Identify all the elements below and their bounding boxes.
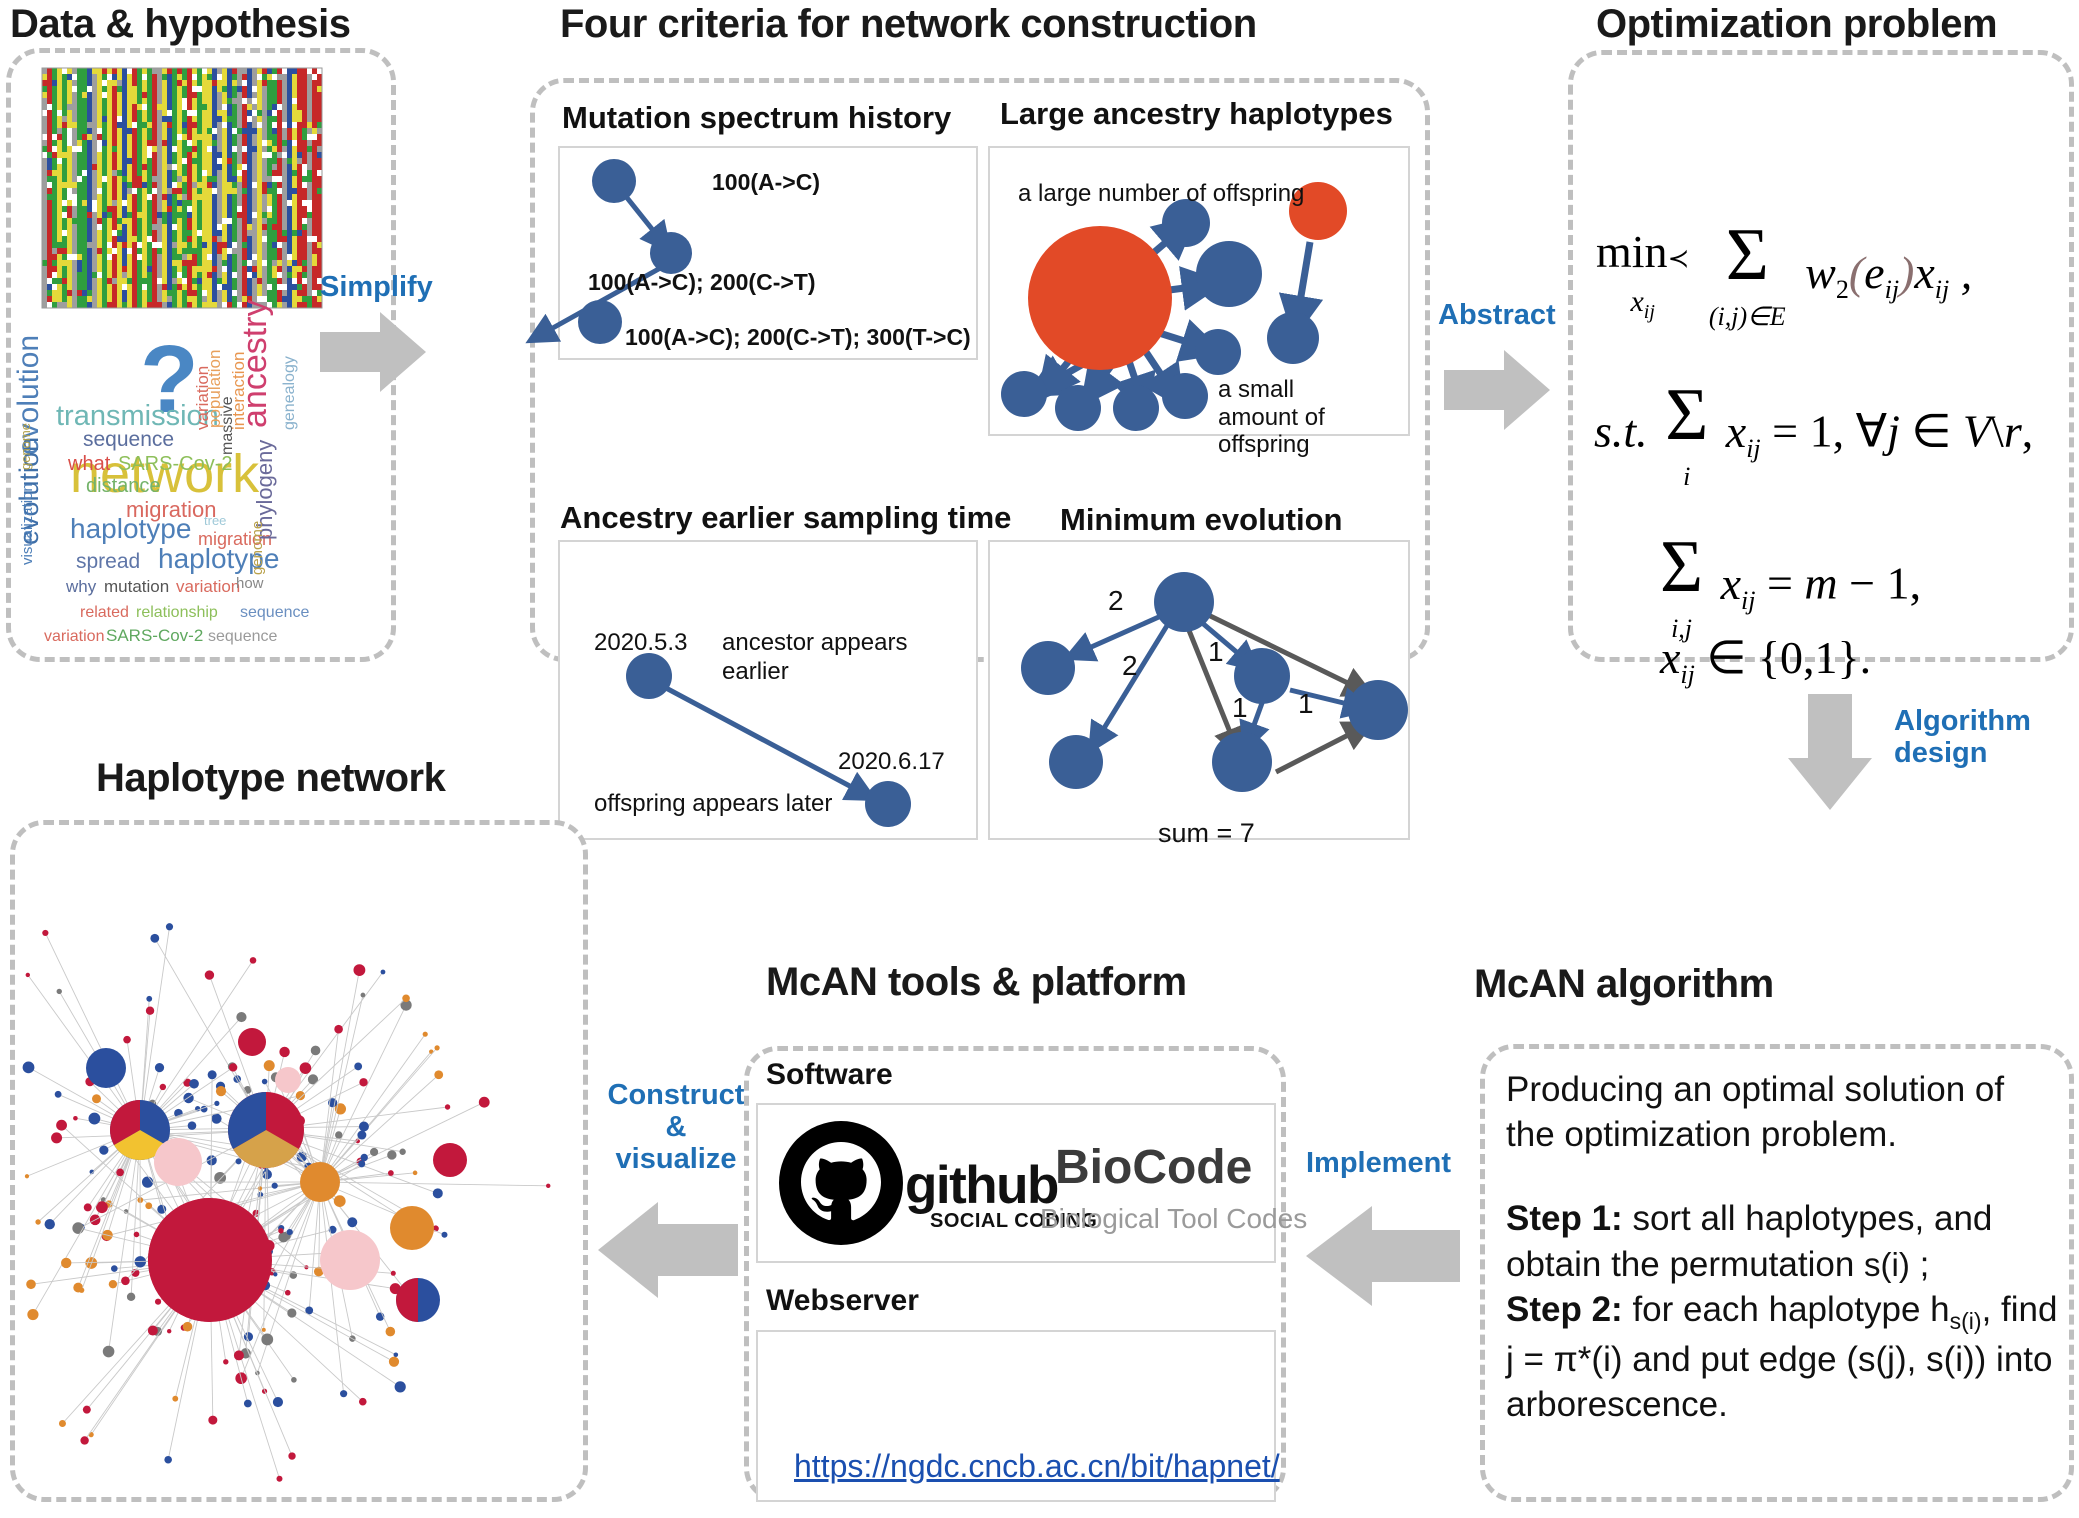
step1-label: Step 1: bbox=[1506, 1199, 1623, 1238]
step2-math-h: h bbox=[1930, 1290, 1949, 1329]
svg-text:tree: tree bbox=[204, 513, 226, 528]
arrow-label-algorithm-design: Algorithmdesign bbox=[1894, 706, 2074, 770]
label-sum: sum = 7 bbox=[1158, 818, 1255, 849]
sequence-alignment-image bbox=[42, 68, 322, 308]
svg-text:genome: genome bbox=[249, 521, 266, 575]
svg-text:sequence: sequence bbox=[83, 428, 174, 451]
arrow-label-simplify: Simplify bbox=[320, 272, 450, 302]
svg-text:what: what bbox=[67, 453, 111, 475]
svg-text:mutation: mutation bbox=[104, 577, 169, 596]
label-mutation-1: 100(A->C) bbox=[712, 169, 820, 196]
step2-math-edge: (s(j), s(i)) bbox=[1846, 1340, 1986, 1379]
algorithm-steps: Step 1: sort all haplotypes, and obtain … bbox=[1506, 1196, 2068, 1428]
svg-text:variation: variation bbox=[176, 577, 240, 596]
edge-weight-5: 1 bbox=[1298, 688, 1314, 720]
page-title-data-hypothesis: Data & hypothesis bbox=[10, 2, 350, 47]
step2-text-a: for each haplotype bbox=[1632, 1290, 1920, 1329]
label-note-ancestor: ancestor appearsearlier bbox=[722, 629, 922, 687]
svg-text:sequence: sequence bbox=[208, 628, 277, 645]
subtitle-large-ancestry: Large ancestry haplotypes bbox=[1000, 96, 1393, 132]
equation-objective: min≺ xij Σ (i,j)∈E w2(eij)xij , bbox=[1596, 222, 1972, 330]
svg-text:why: why bbox=[65, 577, 97, 596]
subtitle-mutation-spectrum: Mutation spectrum history bbox=[562, 100, 951, 136]
label-software: Software bbox=[766, 1058, 893, 1092]
bit-toolkit-icon bbox=[796, 1350, 880, 1434]
bit-tagline: bioinformatics toolkit bbox=[1028, 1398, 1273, 1429]
step2-text-c: and put edge bbox=[1632, 1340, 1836, 1379]
svg-text:relationship: relationship bbox=[136, 604, 218, 621]
label-large-offspring: a large number of offspring bbox=[1018, 180, 1304, 208]
arrow-simplify-icon bbox=[318, 300, 430, 410]
svg-text:genealogy: genealogy bbox=[281, 356, 298, 430]
label-date-offspring: 2020.6.17 bbox=[838, 748, 945, 776]
equation-constraint-1: s.t. Σ i xij = 1, ∀j ∈ V\r, bbox=[1594, 382, 2033, 490]
page-title-optimization: Optimization problem bbox=[1596, 2, 1997, 47]
arrow-implement-icon bbox=[1300, 1194, 1464, 1318]
github-wordmark: github bbox=[905, 1155, 1058, 1216]
arrow-label-construct-visualize: Construct&visualize bbox=[596, 1080, 756, 1176]
svg-text:visualization: visualization bbox=[19, 483, 36, 565]
svg-text:variation: variation bbox=[44, 628, 104, 645]
step2-math-hsub: s(i) bbox=[1950, 1308, 1982, 1334]
svg-text:massive: massive bbox=[219, 396, 236, 455]
svg-text:SARS-Cov-2: SARS-Cov-2 bbox=[118, 453, 232, 475]
arrow-label-abstract: Abstract bbox=[1438, 300, 1568, 330]
arrow-construct-visualize-icon bbox=[592, 1190, 742, 1310]
step1-math: s(i) bbox=[1864, 1246, 1910, 1283]
arrow-abstract-icon bbox=[1442, 338, 1554, 448]
svg-text:distance: distance bbox=[86, 475, 161, 497]
svg-text:sequence: sequence bbox=[240, 604, 309, 621]
biocode-wordmark: BioCode bbox=[1055, 1140, 1252, 1195]
bit-wordmark: BiT bbox=[888, 1342, 998, 1425]
biocode-tagline: Biological Tool Codes bbox=[1040, 1203, 1307, 1235]
step2-text-b: , find bbox=[1982, 1290, 2058, 1329]
subtitle-minimum-evolution: Minimum evolution bbox=[1060, 502, 1342, 538]
haplotype-network-graph bbox=[20, 830, 580, 1490]
page-title-mcan-algorithm: McAN algorithm bbox=[1474, 962, 1774, 1007]
webserver-url-link[interactable]: https://ngdc.cncb.ac.cn/bit/hapnet/ bbox=[794, 1448, 1280, 1485]
page-title-four-criteria: Four criteria for network construction bbox=[560, 2, 1257, 47]
page-title-haplotype-network: Haplotype network bbox=[96, 756, 445, 801]
equation-domain: xij ∈ {0,1}. bbox=[1660, 630, 1871, 690]
svg-text:how: how bbox=[236, 575, 264, 592]
arrow-algorithm-design-icon bbox=[1778, 692, 1888, 814]
diagram-minimum-evolution bbox=[988, 540, 1410, 840]
subtitle-ancestry-time: Ancestry earlier sampling time bbox=[560, 500, 1011, 536]
label-date-ancestor: 2020.5.3 bbox=[594, 629, 687, 657]
label-small-offspring: a small amount ofoffspring bbox=[1218, 376, 1378, 459]
svg-text:spread: spread bbox=[76, 550, 140, 573]
label-webserver: Webserver bbox=[766, 1284, 919, 1318]
label-mutation-2: 100(A->C); 200(C->T) bbox=[588, 269, 816, 296]
equation-constraint-2: Σ i,j xij = m − 1, bbox=[1660, 534, 1921, 642]
label-mutation-3: 100(A->C); 200(C->T); 300(T->C) bbox=[625, 324, 971, 351]
algorithm-intro: Producing an optimal solution of the opt… bbox=[1506, 1068, 2054, 1158]
step1-semicolon: ; bbox=[1920, 1245, 1930, 1284]
arrow-label-implement: Implement bbox=[1306, 1148, 1476, 1178]
svg-text:ancestry: ancestry bbox=[236, 300, 274, 429]
page-title-mcan-tools: McAN tools & platform bbox=[766, 960, 1187, 1005]
edge-weight-4: 1 bbox=[1232, 692, 1248, 724]
svg-text:SARS-Cov-2: SARS-Cov-2 bbox=[106, 626, 203, 645]
step2-label: Step 2: bbox=[1506, 1290, 1623, 1329]
svg-text:related: related bbox=[80, 604, 129, 621]
edge-weight-1: 2 bbox=[1108, 585, 1124, 617]
github-icon bbox=[776, 1118, 906, 1248]
edge-weight-3: 1 bbox=[1208, 636, 1224, 668]
edge-weight-2: 2 bbox=[1122, 650, 1138, 682]
label-note-offspring: offspring appears later bbox=[594, 790, 832, 818]
step2-math-j: j = π*(i) bbox=[1506, 1340, 1623, 1379]
svg-text:genome: genome bbox=[18, 423, 33, 470]
word-cloud: networktransmissionevolutionevolutionseq… bbox=[8, 408, 328, 658]
svg-text:haplotype: haplotype bbox=[70, 513, 191, 544]
